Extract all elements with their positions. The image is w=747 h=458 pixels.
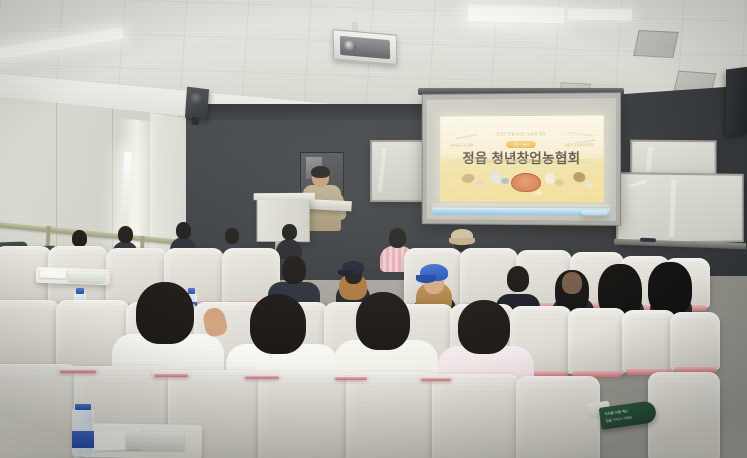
auditorium-seat-front [346,372,436,458]
cap-brim [338,270,354,276]
auditorium-seat-front [258,372,350,458]
person-head [136,282,194,344]
windows-taskbar [432,207,609,215]
fluorescent-light-icon [568,8,632,20]
bucket-hat-brim [449,238,475,245]
seat-cushion [355,383,427,451]
seat-cushion [524,387,591,452]
wall-speaker-icon [726,67,747,136]
seat-armrest [334,373,368,380]
auditorium-seat [622,310,676,372]
person-head [389,228,406,248]
auditorium-seat [568,308,626,374]
projection-screen: 청년이 만들어가는 농업의 미래 2024년도 정기총회 정읍시 청년농업인연합… [422,92,621,226]
seat-armrest [152,370,190,377]
bottle-label [72,431,94,448]
whiteboard-glare [378,148,387,192]
seminar-hall-photo: 청년이 만들어가는 농업의 미래 2024년도 정기총회 정읍시 청년농업인연합… [0,0,747,458]
person-head [356,292,410,350]
person-head [282,256,306,284]
person-head [250,294,306,354]
person-head [458,300,510,354]
seat-cushion [675,319,715,362]
paper-sheet [40,268,66,279]
start-button-icon [434,209,448,214]
seat-cushion [267,383,341,451]
speaker-cone-icon [190,92,204,107]
seat-armrest [244,372,280,379]
whiteboard-glare [628,180,646,188]
seat-armrest [58,366,98,373]
whiteboard-glare [669,179,676,237]
seat-cushion [574,316,620,365]
wall-speaker-icon [185,87,209,121]
paper-sheet [68,271,104,282]
person-head [282,224,297,240]
system-tray-icon [581,210,607,215]
whiteboard [370,140,424,202]
seat-cushion [0,376,68,450]
paper-sheet [126,431,184,450]
water-bottle [72,404,94,456]
screen-surface: 청년이 만들어가는 농업의 미래 2024년도 정기총회 정읍시 청년농업인연합… [427,98,616,221]
marker-icon [640,238,656,243]
seat-cushion [627,317,670,363]
projected-slide: 청년이 만들어가는 농업의 미래 2024년도 정기총회 정읍시 청년농업인연합… [440,115,603,202]
person-head [507,266,529,292]
seat-armrest [420,374,452,381]
presenter-hair [311,166,330,178]
seat-cushion [0,309,53,365]
auditorium-seat-front [648,372,720,458]
auditorium-seat-front [0,364,78,458]
auditorium-seat-front [432,374,520,458]
bottle-cap [76,288,85,294]
ceiling-vent [633,30,679,58]
ceiling-projector [333,29,398,65]
person-head [72,230,87,247]
person-head [225,228,239,244]
bottle-cap [75,404,91,410]
podium-top [254,193,315,200]
seat-cushion [441,385,511,452]
audience-member [276,224,302,258]
person-head [118,226,133,243]
auditorium-seat [670,312,720,370]
auditorium-seat-front [516,376,600,458]
seat-cushion [655,383,713,448]
person-head [562,272,582,294]
placard-line-2: 짐을 가지고 가세요 [605,414,632,423]
slide-light-wash [440,115,603,202]
person-head [176,222,191,239]
person-hair [648,262,692,316]
cap-brim [416,275,436,283]
whiteboard [616,172,744,244]
fluorescent-light-icon [468,5,564,24]
speaker-bracket [191,117,199,126]
projector-lens-icon [344,40,356,52]
